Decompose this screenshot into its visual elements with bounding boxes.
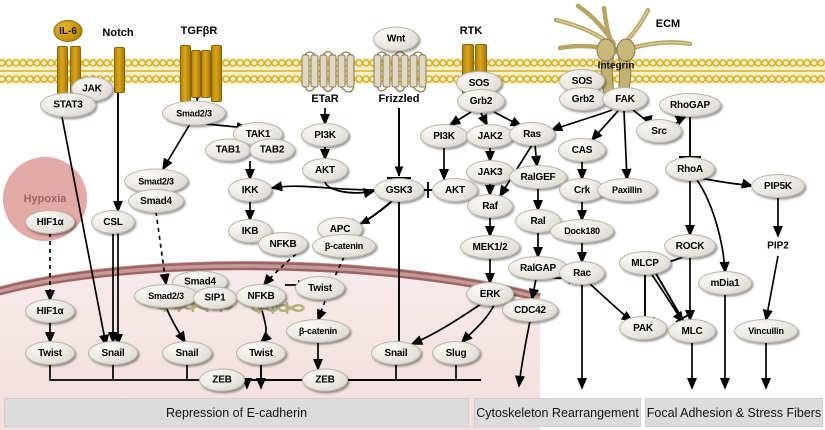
node-nfkb_c[interactable]: NFKB (258, 232, 308, 256)
node-label: IKB (242, 226, 259, 237)
node-dock180[interactable]: Dock180 (550, 219, 614, 243)
node-label: mDia1 (710, 278, 739, 289)
node-label: ERK (480, 289, 501, 300)
node-raf[interactable]: Raf (467, 194, 513, 218)
node-label: NFKB (270, 239, 297, 250)
node-twist_lab[interactable]: Twist (295, 276, 345, 300)
node-label: Smad4 (140, 196, 172, 207)
node-twist_2[interactable]: Twist (236, 341, 286, 365)
node-src[interactable]: Src (636, 119, 682, 143)
node-label: Raf (482, 201, 498, 212)
node-zeb_1[interactable]: ZEB (199, 369, 245, 392)
node-label: JAK2 (478, 131, 503, 142)
receptor-label-etar: ETaR (311, 93, 338, 105)
node-snail_3[interactable]: Snail (371, 341, 421, 365)
node-label: Rac (573, 268, 591, 279)
node-rock[interactable]: ROCK (664, 234, 716, 258)
node-label: SOS (572, 76, 593, 87)
etar-receptor (302, 52, 354, 93)
ligand-il6: IL-6 (54, 20, 83, 42)
node-label: Ras (523, 129, 541, 140)
node-hif1a_c[interactable]: HIF1α (25, 210, 75, 234)
node-label: TAB1 (216, 145, 241, 156)
node-label: Smad2/3 (138, 176, 174, 186)
node-grb2_r[interactable]: Grb2 (457, 89, 505, 113)
node-label: CDC42 (514, 305, 546, 316)
receptor-label-integrin: Integrin (598, 61, 635, 72)
node-label: HIF1α (37, 306, 64, 317)
node-csl[interactable]: CSL (91, 210, 135, 234)
node-label: Crk (574, 185, 590, 196)
node-label: RalGEF (521, 172, 556, 183)
node-gsk3[interactable]: GSK3 (374, 178, 424, 202)
node-ralgef[interactable]: RalGEF (509, 165, 567, 189)
node-label: PAK (633, 323, 653, 334)
node-label: MEK1/2 (473, 242, 508, 253)
node-tab1[interactable]: TAB1 (205, 139, 251, 162)
receptor-label-notch: Notch (102, 27, 133, 39)
node-smad23_n[interactable]: Smad2/3 (134, 284, 198, 308)
node-label: CAS (572, 145, 593, 156)
node-label: Twist (249, 348, 273, 359)
receptor-label-tgfbr: TGFβR (181, 25, 218, 37)
node-mlcp[interactable]: MLCP (619, 251, 671, 275)
node-label: Grb2 (572, 94, 595, 105)
node-pak[interactable]: PAK (619, 316, 667, 340)
node-label: Smad2/3 (176, 108, 212, 118)
node-pip5k[interactable]: PIP5K (751, 174, 805, 198)
node-label: ZEB (212, 375, 231, 386)
receptor-label-ecm: ECM (656, 18, 680, 30)
pathway-diagram: IL-6 Wnt Notch TGFβR ETaR Frizzled RTK E… (0, 0, 825, 430)
node-label: Ral (531, 216, 546, 227)
node-ras[interactable]: Ras (509, 122, 555, 146)
node-jak2[interactable]: JAK2 (466, 124, 514, 148)
node-bcat_c[interactable]: β-catenin (312, 234, 376, 258)
node-pi3k_r[interactable]: PI3K (420, 124, 468, 148)
node-pi3k_et[interactable]: PI3K (301, 123, 349, 147)
label-pip2: PIP2 (767, 241, 789, 252)
node-sip1[interactable]: SIP1 (193, 287, 237, 310)
receptor-label-frizzled: Frizzled (379, 93, 420, 105)
node-paxillin[interactable]: Paxillin (597, 178, 657, 202)
node-label: ROCK (676, 241, 705, 252)
node-label: Smad2/3 (148, 291, 184, 301)
node-label: HIF1α (37, 217, 64, 228)
node-mek12[interactable]: MEK1/2 (460, 235, 520, 259)
outcome-box-label: Focal Adhesion & Stress Fibers (647, 406, 821, 420)
node-label: Grb2 (470, 96, 493, 107)
node-cdc42[interactable]: CDC42 (502, 298, 558, 322)
node-label: SIP1 (205, 293, 226, 304)
node-label: STAT3 (53, 100, 82, 111)
node-smad23_r[interactable]: Smad2/3 (162, 101, 226, 126)
outcome-box-label: Cytoskeleton Rearrangement (476, 406, 639, 420)
frizzled-receptor (374, 52, 426, 93)
node-label: JAK (82, 84, 101, 95)
node-label: Dock180 (564, 226, 600, 236)
node-label: MLCP (631, 258, 659, 269)
node-label: SOS (469, 78, 490, 89)
node-label: Snail (385, 348, 408, 359)
node-rac[interactable]: Rac (559, 261, 605, 285)
node-label: PI3K (314, 130, 335, 141)
ligand-wnt: Wnt (373, 27, 419, 52)
node-label: NFKB (248, 291, 275, 302)
node-label: APC (330, 224, 351, 235)
node-zeb_2[interactable]: ZEB (302, 369, 348, 392)
node-hif1a_n[interactable]: HIF1α (25, 299, 75, 323)
node-tab2[interactable]: TAB2 (249, 139, 295, 162)
node-slug[interactable]: Slug (432, 341, 480, 365)
node-label: Vincullin (748, 326, 784, 336)
node-label: PI3K (433, 131, 454, 142)
node-label: Snail (102, 348, 125, 359)
node-label: Twist (308, 283, 332, 294)
node-label: Twist (38, 348, 62, 359)
node-label: CSL (103, 217, 122, 228)
node-label: Src (651, 126, 667, 137)
node-snail_2[interactable]: Snail (162, 341, 212, 365)
node-label: AKT (315, 165, 335, 176)
node-label: GSK3 (386, 185, 412, 196)
node-label: FAK (615, 94, 634, 105)
node-fak[interactable]: FAK (602, 87, 648, 111)
node-label: JAK3 (478, 167, 503, 178)
node-mdia1[interactable]: mDia1 (698, 271, 752, 295)
node-label: β-catenin (299, 326, 337, 336)
node-label: RhoA (677, 164, 703, 175)
node-label: PIP5K (764, 181, 792, 192)
node-jak3[interactable]: JAK3 (466, 160, 514, 184)
node-label: TAB2 (260, 145, 285, 156)
outcome-box-focal: Focal Adhesion & Stress Fibers (645, 398, 823, 427)
node-grb2_i[interactable]: Grb2 (559, 87, 607, 111)
node-bcat_n[interactable]: β-catenin (286, 319, 350, 343)
node-label: RalGAP (520, 263, 556, 274)
node-nfkb_n[interactable]: NFKB (236, 284, 286, 308)
node-akt_et[interactable]: AKT (302, 158, 348, 182)
node-snail_1[interactable]: Snail (88, 341, 138, 365)
node-label: Snail (176, 348, 199, 359)
node-label: ZEB (315, 375, 334, 386)
outcome-box-label: Repression of E-cadherin (166, 406, 307, 420)
node-twist_1[interactable]: Twist (25, 341, 75, 365)
outcome-box-repression: Repression of E-cadherin (4, 398, 469, 427)
node-label: IKK (242, 185, 259, 196)
node-vincullin[interactable]: Vincullin (734, 319, 798, 343)
node-stat3[interactable]: STAT3 (40, 93, 96, 118)
node-cas[interactable]: CAS (558, 138, 606, 162)
node-rhogap[interactable]: RhoGAP (659, 93, 721, 117)
node-label: Slug (446, 348, 467, 359)
node-label: AKT (445, 185, 465, 196)
receptor-label-rtk: RTK (460, 25, 483, 37)
outcome-box-cytoskeleton: Cytoskeleton Rearrangement (474, 398, 641, 427)
node-label: Paxillin (612, 185, 642, 195)
node-rhoa[interactable]: RhoA (665, 157, 715, 181)
node-mlc[interactable]: MLC (668, 319, 716, 343)
node-label: β-catenin (325, 241, 363, 251)
node-label: RhoGAP (670, 100, 710, 111)
node-label: MLC (681, 326, 702, 337)
node-smad4_c[interactable]: Smad4 (128, 189, 184, 213)
node-ikk[interactable]: IKK (228, 178, 272, 202)
